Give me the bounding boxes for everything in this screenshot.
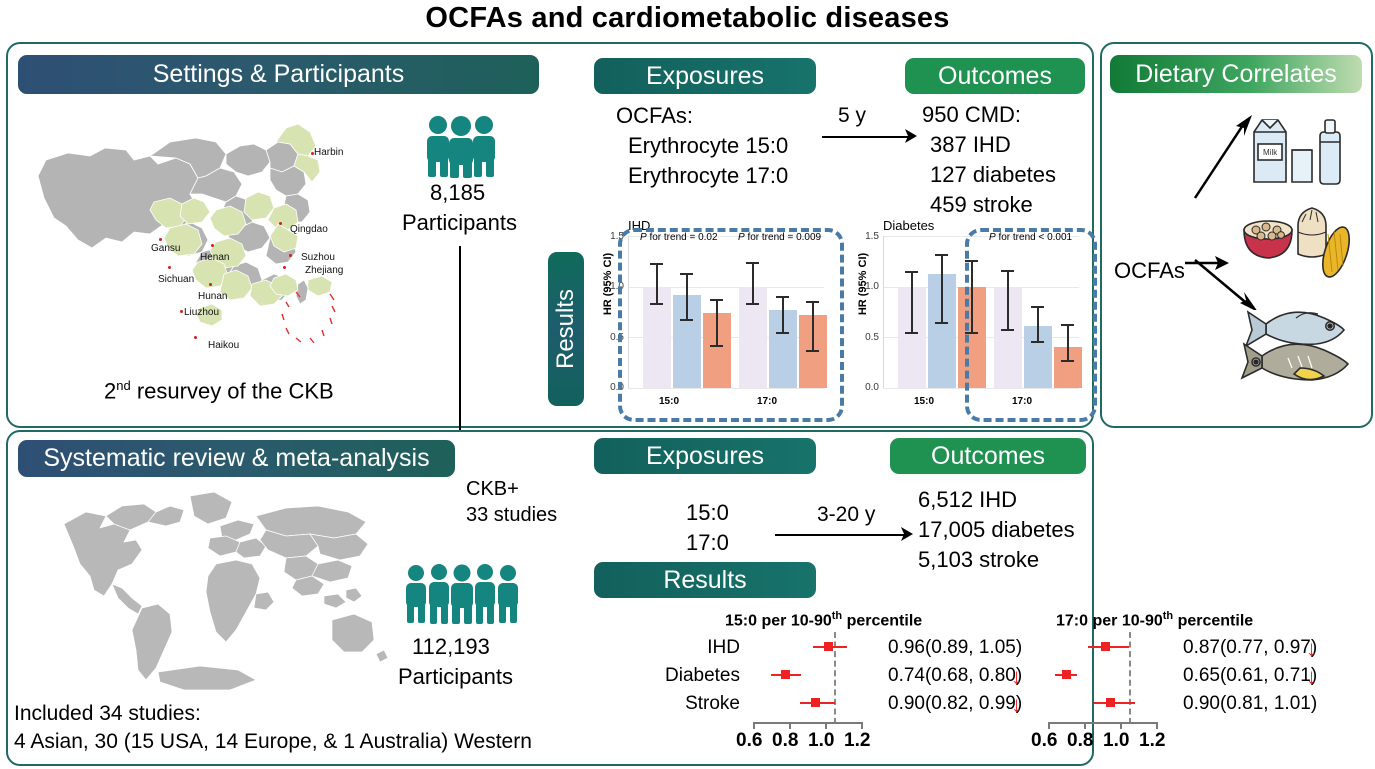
outcome-top-line-3: 459 stroke	[930, 192, 1033, 218]
exposure-outcome-arrowhead-bottom	[898, 527, 914, 543]
forest-15-marker-0	[824, 642, 833, 651]
forest-17-marker-2	[1106, 698, 1115, 707]
map-label-haikou: Haikou	[208, 340, 239, 351]
participants-count-bottom: 112,193	[412, 634, 490, 660]
exposure-outcome-arrow-top	[822, 136, 908, 138]
header-outcomes-bottom: Outcomes	[890, 438, 1086, 474]
forest-15-xtick-0: 0.6	[736, 730, 762, 752]
map-dot-hunan	[209, 283, 212, 286]
results-tab-label: Results	[554, 289, 578, 369]
chart-diabetes-cap-top-15-q2	[935, 254, 948, 256]
outcome-bottom-line-0: 6,512 IHD	[918, 487, 1017, 513]
forest-15-axis	[753, 722, 863, 724]
forest-15-marker-1	[781, 670, 790, 679]
chart-diabetes-cap-bot-15-q1	[905, 332, 918, 334]
milk-carton-text: Milk	[1263, 148, 1278, 157]
dietary-arrow-middle	[1185, 252, 1233, 274]
header-dietary-correlates: Dietary Correlates	[1110, 55, 1362, 93]
forest-15-xtick-2: 1.0	[808, 730, 834, 752]
map-dot-haikou	[194, 336, 197, 339]
map-label-henan: Henan	[200, 252, 229, 263]
forest-17-xtick-0: 0.6	[1031, 730, 1057, 752]
forest-17-title-tail: percentile	[1173, 612, 1253, 629]
chart-diabetes-ytick-1: 0.5	[849, 332, 879, 343]
followup-label-bottom: 3-20 y	[817, 503, 875, 527]
chart-diabetes-ytick-2: 1.0	[849, 281, 879, 292]
forest-17-tick-0	[1048, 722, 1050, 729]
header-settings-participants: Settings & Participants	[18, 55, 539, 94]
forest-17-xtick-3: 1.2	[1139, 730, 1165, 752]
chart-diabetes-ytick-0: 0.0	[849, 382, 879, 393]
map-dot-zhejiang	[283, 266, 286, 269]
flow-label-line2: 33 studies	[466, 504, 557, 527]
forest-15-tick-3	[861, 722, 863, 729]
forest-15-title-sup: th	[832, 610, 842, 622]
header-systematic-review: Systematic review & meta-analysis	[18, 440, 455, 477]
forest-15-tick-0	[753, 722, 755, 729]
forest-15-title-main: 15:0 per 10-90	[725, 612, 832, 629]
forest-17-axis	[1048, 722, 1158, 724]
forest-17-title: 17:0 per 10-90th percentile	[1056, 610, 1253, 630]
header-exposures-top: Exposures	[594, 58, 816, 94]
map-dot-liuzhou	[180, 310, 183, 313]
ckb-resurvey-caption: 2nd resurvey of the CKB	[104, 378, 334, 404]
forest-17-sig-arrow-1: ↓	[1306, 666, 1317, 688]
map-label-sichuan: Sichuan	[158, 274, 194, 285]
header-outcomes-top: Outcomes	[905, 58, 1085, 94]
forest-17-tick-3	[1156, 722, 1158, 729]
forest-17-marker-1	[1062, 670, 1071, 679]
forest-plot-15: 15:0 per 10-90th percentile IHD Diabetes…	[640, 604, 1010, 764]
forest-15-row-0: IHD	[640, 637, 740, 659]
forest-15-title-tail: percentile	[842, 612, 922, 629]
forest-plot-17: 17:0 per 10-90th percentile 0.87(0.77, 0…	[1000, 604, 1370, 764]
exposure-bottom-line-2: 17:0	[686, 530, 729, 556]
exposure-line-1: OCFAs:	[616, 103, 693, 129]
outcome-top-line-2: 127 diabetes	[930, 162, 1056, 188]
caption-post: resurvey of the CKB	[131, 378, 334, 403]
results-vertical-tab: Results	[548, 252, 584, 406]
forest-17-estimate-1: 0.65(0.61, 0.71)	[1183, 665, 1317, 687]
included-studies-line1: Included 34 studies:	[14, 702, 201, 726]
map-dot-suzhou	[289, 254, 292, 257]
map-label-liuzhou: Liuzhou	[184, 307, 219, 318]
forest-17-title-main: 17:0 per 10-90	[1056, 612, 1163, 629]
forest-17-xtick-1: 0.8	[1067, 730, 1093, 752]
participants-count-top: 8,185	[430, 180, 485, 206]
header-exposures-bottom: Exposures	[594, 438, 816, 474]
outcome-top-line-0: 950 CMD:	[922, 102, 1021, 128]
exposure-line-2: Erythrocyte 15:0	[628, 133, 788, 159]
map-label-harbin: Harbin	[314, 147, 343, 158]
map-label-hunan: Hunan	[198, 291, 227, 302]
chart-diabetes-xlabel-0: 15:0	[889, 396, 959, 407]
map-label-zhejiang: Zhejiang	[305, 265, 343, 276]
forest-15-row-1: Diabetes	[640, 665, 740, 687]
outcome-bottom-line-2: 5,103 stroke	[918, 547, 1039, 573]
forest-17-xtick-2: 1.0	[1103, 730, 1129, 752]
map-dot-qingdao	[279, 222, 282, 225]
forest-15-title: 15:0 per 10-90th percentile	[725, 610, 922, 630]
chart-diabetes-ci-15-q1	[911, 271, 913, 334]
forest-17-title-sup: th	[1163, 610, 1173, 622]
chart-diabetes-cap-bot-15-q2	[935, 322, 948, 324]
forest-15-marker-2	[811, 698, 820, 707]
forest-15-tick-1	[789, 722, 791, 729]
forest-17-null-line	[1129, 632, 1131, 724]
chart-diabetes-cap-top-15-q1	[905, 271, 918, 273]
exposure-bottom-line-1: 15:0	[686, 500, 729, 526]
forest-17-estimate-0: 0.87(0.77, 0.97)	[1183, 637, 1317, 659]
chart-ihd-highlight-box	[618, 228, 844, 422]
forest-15-tick-2	[825, 722, 827, 729]
exposure-outcome-arrow-bottom	[775, 534, 905, 536]
forest-17-sig-arrow-0: ↓	[1306, 638, 1317, 660]
page-title: OCFAs and cardiometabolic diseases	[0, 2, 1375, 35]
forest-17-estimate-2: 0.90(0.81, 1.01)	[1183, 693, 1317, 715]
flow-label-line1: CKB+	[466, 478, 519, 501]
exposure-outcome-arrowhead-top	[902, 129, 918, 145]
forest-15-xtick-3: 1.2	[844, 730, 870, 752]
chart-diabetes-highlight-box	[965, 228, 1097, 422]
dairy-milk-icon: Milk	[1240, 110, 1350, 188]
forest-17-tick-2	[1120, 722, 1122, 729]
map-dot-henan	[211, 244, 214, 247]
map-label-gansu: Gansu	[151, 243, 180, 254]
soy-grain-corn-icon	[1240, 200, 1352, 280]
map-label-qingdao: Qingdao	[290, 224, 328, 235]
forest-15-xtick-1: 0.8	[772, 730, 798, 752]
world-map	[60, 490, 390, 695]
dietary-source-label: OCFAs	[1114, 258, 1185, 284]
forest-17-marker-0	[1101, 642, 1110, 651]
exposure-line-3: Erythrocyte 17:0	[628, 163, 788, 189]
forest-17-tick-1	[1084, 722, 1086, 729]
chart-diabetes-ci-15-q2	[941, 254, 943, 324]
outcome-top-line-1: 387 IHD	[930, 132, 1011, 158]
map-label-suzhou: Suzhou	[301, 252, 335, 263]
included-studies-line2: 4 Asian, 30 (15 USA, 14 Europe, & 1 Aust…	[14, 730, 532, 754]
map-dot-sichuan	[168, 266, 171, 269]
chart-diabetes-title: Diabetes	[883, 218, 934, 233]
participants-label-bottom: Participants	[398, 664, 513, 690]
outcome-bottom-line-1: 17,005 diabetes	[918, 517, 1075, 543]
participants-icon-bottom	[404, 563, 522, 625]
map-dot-gansu	[159, 238, 162, 241]
participants-label-top: Participants	[402, 210, 517, 236]
followup-label-top: 5 y	[838, 104, 866, 128]
forest-15-row-2: Stroke	[640, 693, 740, 715]
fish-icon	[1238, 298, 1356, 384]
caption-pre: 2	[104, 378, 116, 403]
china-map	[30, 98, 370, 373]
caption-sup: nd	[116, 378, 130, 393]
header-results-bottom: Results	[594, 562, 816, 598]
chart-diabetes-ytick-3: 1.5	[849, 231, 879, 242]
participants-icon-top	[424, 114, 500, 178]
